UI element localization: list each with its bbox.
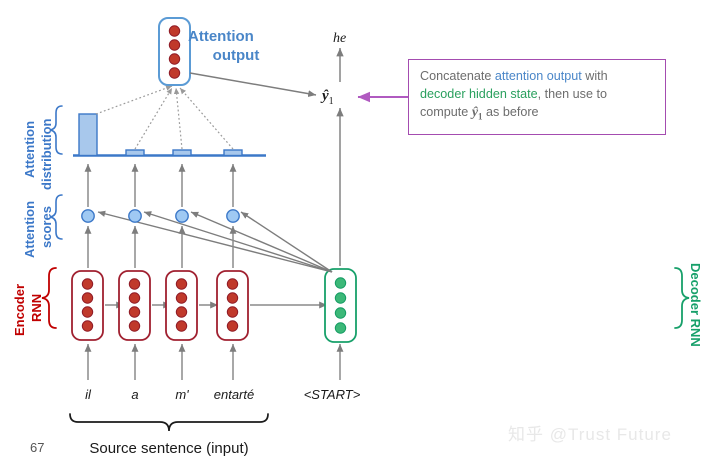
callout-text-part2: with — [582, 69, 608, 83]
yhat-subscript: 1 — [329, 96, 334, 107]
label-attention-scores-line1: Attention — [22, 201, 37, 258]
attention-output-caption: Attention output — [188, 28, 284, 66]
attention-score-nodes — [82, 210, 239, 222]
callout-text-part1: Concatenate — [420, 69, 495, 83]
brace-source-sentence — [70, 414, 268, 431]
callout-box: Concatenate attention output with decode… — [408, 59, 666, 135]
source-sentence-caption: Source sentence (input) — [89, 440, 248, 457]
distribution-bar-3 — [173, 150, 191, 156]
encoder-cell-4 — [217, 271, 248, 340]
distribution-bar-2 — [126, 150, 144, 156]
attention-distribution-chart — [73, 114, 266, 156]
distribution-bar-1 — [79, 114, 97, 156]
yhat-label: ŷ1 — [322, 88, 334, 108]
yhat-symbol: ŷ — [322, 88, 329, 104]
encoder-cell-2 — [119, 271, 150, 340]
attention-output-to-yhat-arrow — [190, 73, 316, 95]
label-attention-scores-line2: scores — [39, 206, 54, 248]
brace-encoder-rnn — [42, 268, 56, 328]
distribution-bar-4 — [224, 150, 242, 156]
attention-output-caption-line2: output — [188, 47, 284, 66]
attention-score-node-1 — [82, 210, 94, 222]
encoder-input-arrows — [88, 344, 340, 380]
attention-score-node-2 — [129, 210, 141, 222]
label-decoder-rnn: Decoder RNN — [688, 263, 703, 347]
callout-highlight-decoder-hidden-state: decoder hidden state — [420, 87, 538, 101]
encoder-cell-1 — [72, 271, 103, 340]
attention-diagram-canvas: Attention distribution Attention scores … — [0, 0, 720, 472]
callout-text-part4: as before — [483, 105, 539, 119]
decoder-input-token: <START> — [304, 388, 361, 403]
label-attention-distribution-line1: Attention — [22, 121, 37, 178]
encoder-cell-3 — [166, 271, 197, 340]
attention-output-box — [159, 18, 190, 85]
decoder-rnn-cell — [325, 269, 356, 342]
source-word-2: a — [131, 388, 138, 403]
attention-output-caption-line1: Attention — [188, 28, 284, 47]
label-attention-distribution-line2: distribution — [39, 119, 54, 191]
watermark: 知乎 @Trust Future — [508, 425, 672, 445]
page-number: 67 — [30, 441, 44, 456]
label-encoder-line1: Encoder — [12, 284, 27, 336]
source-word-1: il — [85, 388, 91, 403]
label-encoder-line2: RNN — [29, 294, 44, 322]
attention-score-node-4 — [227, 210, 239, 222]
attention-score-node-3 — [176, 210, 188, 222]
predicted-word-label: he — [333, 31, 346, 47]
brace-decoder-rnn — [675, 268, 689, 328]
distribution-to-output-dotted-lines — [96, 86, 233, 149]
scores-to-distribution-arrows — [88, 164, 233, 207]
source-word-4: entarté — [214, 388, 254, 403]
callout-highlight-attention-output: attention output — [495, 69, 582, 83]
encoder-to-scores-arrows — [88, 226, 233, 268]
source-word-3: m' — [175, 388, 188, 403]
